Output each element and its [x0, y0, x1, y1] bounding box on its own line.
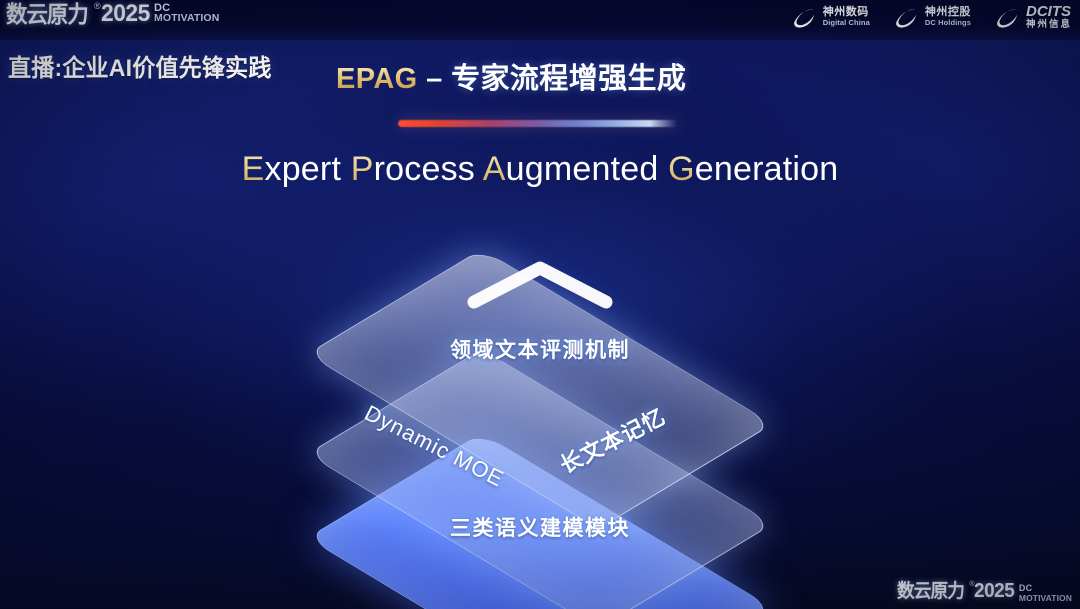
subtitle-word-augmented: ugmented	[506, 150, 659, 188]
registered-mark: ®	[94, 1, 101, 11]
swirl-icon	[995, 4, 1021, 30]
brand-logo-dc: DC MOTIVATION	[154, 3, 219, 23]
brand-logo-year: 2025	[101, 1, 150, 27]
partner-logo-text: 神州数码 Digital China	[823, 7, 870, 27]
partner-name-cn: DCITS	[1026, 4, 1072, 19]
slide-canvas: 数云原力 ® 2025 DC MOTIVATION 神州数码 Digital C…	[0, 0, 1080, 609]
page-title-dash: –	[426, 63, 443, 95]
watermark-dc-line2: MOTIVATION	[1019, 593, 1072, 603]
footer-watermark: 数云原力 ® 2025 DC MOTIVATION	[897, 581, 1072, 603]
partner-logo-dcits: DCITS 神州信息	[995, 4, 1072, 30]
layer-caption-top: 领域文本评测机制	[0, 334, 1080, 364]
layer-caption-bottom: 三类语义建模模块	[0, 512, 1080, 542]
subtitle-word-process: rocess	[374, 150, 475, 188]
watermark-year: 2025	[974, 581, 1014, 602]
brand-logo: 数云原力 ® 2025 DC MOTIVATION	[6, 1, 219, 27]
subtitle-initial-g: G	[668, 150, 695, 188]
page-title-chinese: 专家流程增强生成	[451, 63, 686, 95]
partner-logo-text: DCITS 神州信息	[1026, 4, 1072, 30]
swirl-icon	[792, 4, 818, 30]
live-session-label: 直播:企业AI价值先锋实践	[8, 48, 272, 83]
partner-name-cn: 神州数码	[823, 7, 870, 18]
partner-name-en: Digital China	[823, 19, 870, 27]
subtitle-word-expert: xpert	[265, 150, 342, 188]
header-bar: 数云原力 ® 2025 DC MOTIVATION 神州数码 Digital C…	[0, 0, 1080, 40]
subtitle-initial-a: A	[483, 150, 506, 188]
brand-logo-dc-line2: MOTIVATION	[154, 13, 219, 23]
chevron-up-icon	[464, 256, 616, 312]
brand-logo-name: 数云原力	[6, 1, 88, 27]
watermark-name: 数云原力	[897, 581, 964, 602]
title-divider	[398, 120, 678, 127]
partner-logo-text: 神州控股 DC Holdings	[925, 7, 971, 27]
partner-name-en: 神州信息	[1026, 20, 1072, 30]
page-subtitle: Expert Process Augmented Generation	[0, 150, 1080, 189]
watermark-dc-line1: DC	[1019, 583, 1072, 593]
partner-logos: 神州数码 Digital China 神州控股 DC Holdings	[792, 4, 1072, 30]
swirl-icon	[894, 4, 920, 30]
partner-name-cn: 神州控股	[925, 7, 971, 18]
subtitle-initial-p: P	[351, 150, 374, 188]
page-title-acronym: EPAG	[336, 63, 418, 95]
subtitle-word-generation: eneration	[695, 150, 839, 188]
subtitle-initial-e: E	[242, 150, 265, 188]
partner-logo-dc-holdings: 神州控股 DC Holdings	[894, 4, 971, 30]
partner-name-en: DC Holdings	[925, 19, 971, 27]
page-title: EPAG – 专家流程增强生成	[336, 55, 686, 97]
watermark-dc: DC MOTIVATION	[1019, 583, 1072, 603]
partner-logo-digital-china: 神州数码 Digital China	[792, 4, 870, 30]
